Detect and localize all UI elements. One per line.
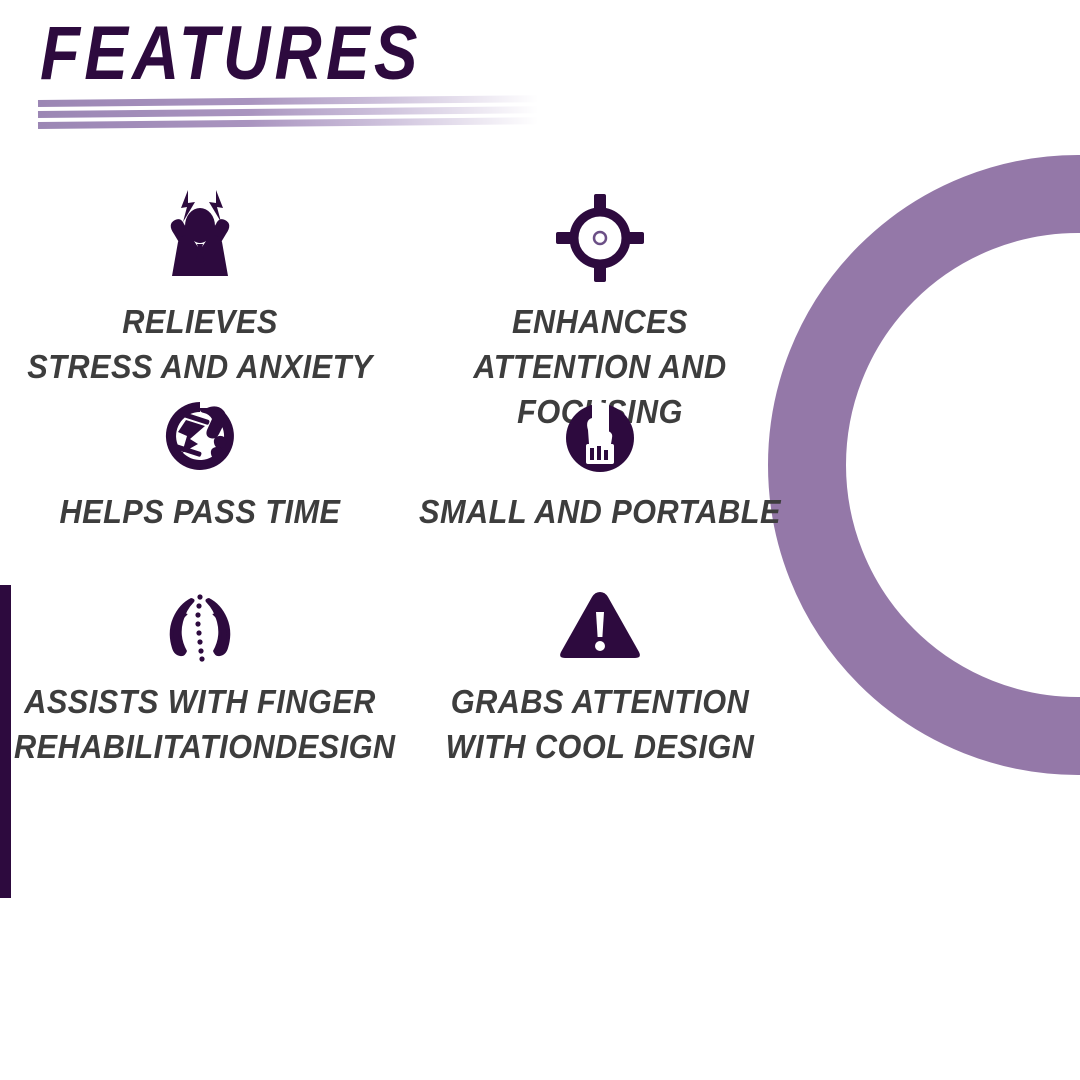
hand-holding-object-icon (400, 380, 800, 476)
header-rule-2 (38, 106, 538, 118)
features-infographic: FEATURES (0, 0, 1080, 1080)
feature-label: HELPS PASS TIME (14, 490, 386, 535)
hands-spine-care-icon (0, 570, 400, 666)
feature-item-helps-pass-time: HELPS PASS TIME (0, 380, 400, 535)
feature-item-grabs-attention: GRABS ATTENTION WITH COOL DESIGN (400, 570, 800, 770)
feature-item-relieves-stress: RELIEVES STRESS AND ANXIETY (0, 190, 400, 390)
feature-label: RELIEVES STRESS AND ANXIETY (14, 300, 386, 390)
header-rule-1 (38, 95, 538, 107)
header-rule-3 (38, 117, 538, 129)
feature-row: RELIEVES STRESS AND ANXIETY (0, 190, 800, 380)
crosshair-target-icon (400, 190, 800, 286)
page-title: FEATURES (40, 18, 422, 90)
page-header: FEATURES (40, 18, 484, 90)
feature-grid: RELIEVES STRESS AND ANXIETY (0, 190, 800, 760)
feature-label: ASSISTS WITH FINGER REHABILITATIONDESIGN (14, 680, 386, 770)
hourglass-hand-icon (0, 380, 400, 476)
stressed-person-icon (0, 190, 400, 286)
feature-item-finger-rehabilitation: ASSISTS WITH FINGER REHABILITATIONDESIGN (0, 570, 400, 770)
feature-label: SMALL AND PORTABLE (414, 490, 786, 535)
header-rule-group (38, 99, 548, 131)
feature-row: ASSISTS WITH FINGER REHABILITATIONDESIGN… (0, 570, 800, 760)
feature-label: GRABS ATTENTION WITH COOL DESIGN (414, 680, 786, 770)
purple-ring-decoration (768, 155, 1080, 775)
warning-exclamation-icon (400, 570, 800, 666)
feature-item-small-portable: SMALL AND PORTABLE (400, 380, 800, 535)
feature-row: HELPS PASS TIME (0, 380, 800, 570)
